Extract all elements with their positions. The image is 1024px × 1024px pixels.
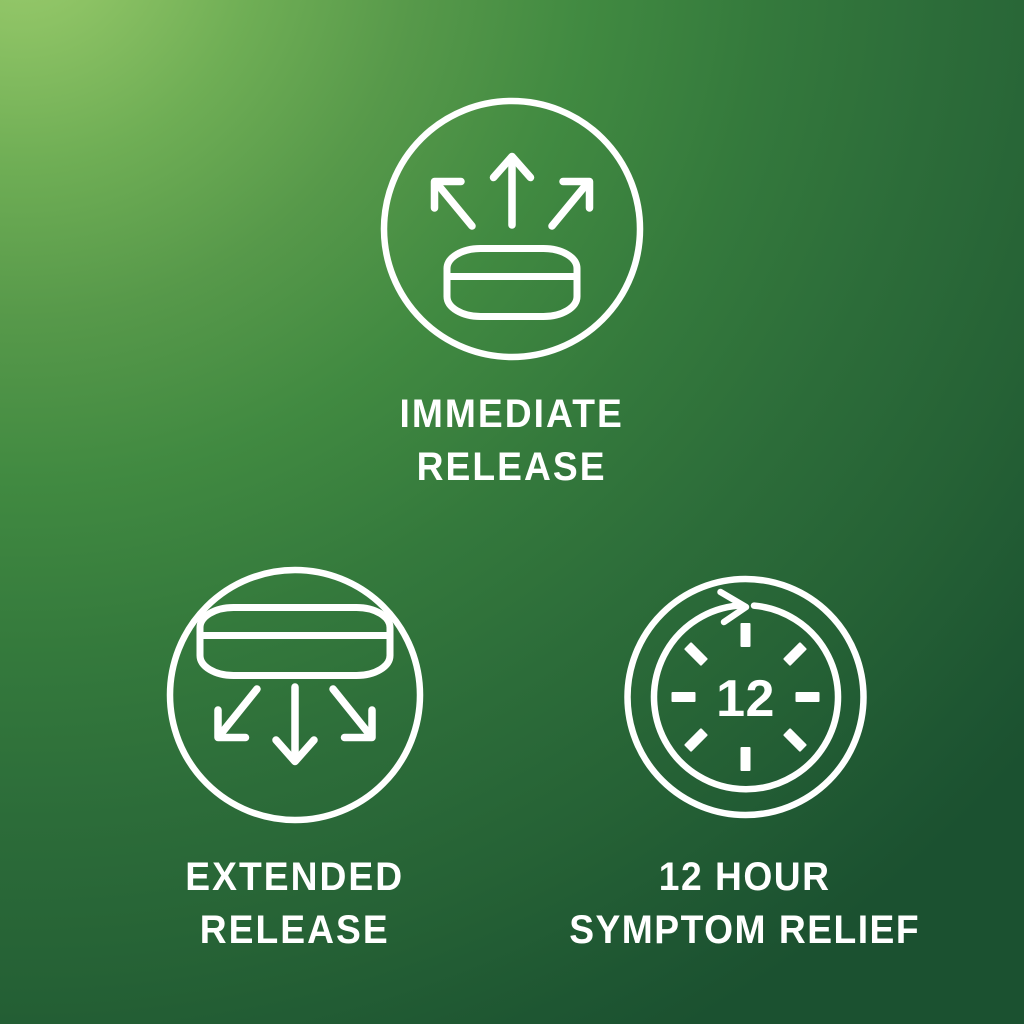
feature-caption-extended-release: EXTENDED RELEASE [186, 851, 405, 957]
tablet-arrows-up-icon [379, 96, 645, 362]
tablet-arrows-down-icon [165, 565, 425, 825]
feature-caption-12-hour-symptom-relief: 12 HOUR SYMPTOM RELIEF [570, 851, 921, 957]
feature-extended-release: EXTENDED RELEASE [40, 565, 550, 957]
infographic-poster: IMMEDIATE RELEASE EXT [0, 0, 1024, 1024]
clock-center-value: 12 [716, 670, 775, 728]
feature-caption-immediate-release: IMMEDIATE RELEASE [400, 388, 624, 494]
feature-12-hour-symptom-relief: 12 12 HOUR SYMPTOM RELIEF [490, 565, 1000, 957]
clock-12-hour-icon: 12 [623, 565, 868, 825]
feature-immediate-release: IMMEDIATE RELEASE [262, 96, 762, 494]
